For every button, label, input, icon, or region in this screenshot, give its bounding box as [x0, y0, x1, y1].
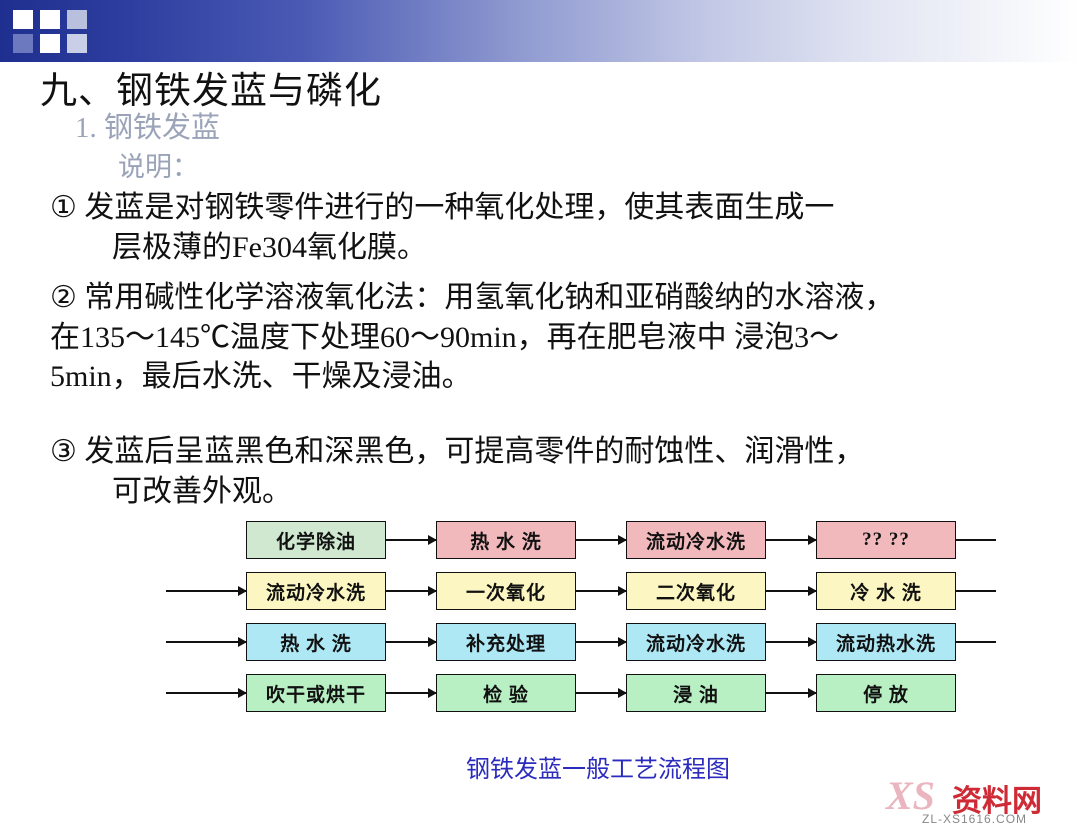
arrow-icon	[766, 641, 816, 643]
flow-node: 化学除油	[246, 521, 386, 559]
flowchart-caption: 钢铁发蓝一般工艺流程图	[228, 749, 968, 784]
squares-logo-icon	[0, 0, 130, 62]
process-flowchart: 化学除油 热 水 洗 流动冷水洗 ?? ?? 流动冷水洗 一次氧化 二次氧化 冷…	[228, 521, 968, 741]
paragraph-2-line-1: 常用碱性化学溶液氧化法：用氢氧化钠和亚硝酸纳的水溶液，	[84, 281, 894, 314]
flow-node: 热 水 洗	[436, 521, 576, 559]
watermark: XS 资料网 ZL-XS1616.COM	[886, 770, 1066, 826]
watermark-url: ZL-XS1616.COM	[922, 812, 1027, 826]
explain-label: 说明：	[118, 145, 199, 184]
flow-node: 冷 水 洗	[816, 572, 956, 610]
paragraph-2-line-2: 在135～145℃温度下处理60～90min，再在肥皂液中 浸泡3～	[50, 318, 1065, 358]
arrow-icon	[766, 539, 816, 541]
flow-node: 流动冷水洗	[626, 521, 766, 559]
arrow-icon	[196, 692, 246, 694]
paragraph-3: ③ 发蓝后呈蓝黑色和深黑色，可提高零件的耐蚀性、润滑性， 可改善外观。	[50, 432, 1065, 511]
arrow-icon	[766, 692, 816, 694]
paragraph-1-marker: ①	[50, 188, 77, 228]
flow-row: 化学除油 热 水 洗 流动冷水洗 ?? ??	[228, 521, 968, 563]
flow-node: ?? ??	[816, 521, 956, 559]
paragraph-1-line-2: 层极薄的Fe304氧化膜。	[50, 228, 1060, 268]
paragraph-2-marker: ②	[50, 278, 77, 318]
paragraph-2: ② 常用碱性化学溶液氧化法：用氢氧化钠和亚硝酸纳的水溶液， 在135～145℃温…	[50, 278, 1065, 397]
flow-node: 停 放	[816, 674, 956, 712]
flow-node: 补充处理	[436, 623, 576, 661]
paragraph-1: ① 发蓝是对钢铁零件进行的一种氧化处理，使其表面生成一 层极薄的Fe304氧化膜…	[50, 188, 1060, 267]
flow-node: 二次氧化	[626, 572, 766, 610]
arrow-icon	[576, 539, 626, 541]
arrow-icon	[386, 692, 436, 694]
connector-line	[166, 641, 196, 643]
arrow-icon	[386, 539, 436, 541]
flow-node: 流动热水洗	[816, 623, 956, 661]
flow-node: 热 水 洗	[246, 623, 386, 661]
arrow-icon	[576, 692, 626, 694]
flow-node: 流动冷水洗	[246, 572, 386, 610]
arrow-icon	[576, 590, 626, 592]
arrow-icon	[386, 641, 436, 643]
flow-node: 检 验	[436, 674, 576, 712]
flow-row: 流动冷水洗 一次氧化 二次氧化 冷 水 洗	[228, 572, 968, 614]
header-band	[0, 0, 1080, 62]
paragraph-1-line-1: 发蓝是对钢铁零件进行的一种氧化处理，使其表面生成一	[84, 191, 834, 224]
paragraph-2-line-3: 5min，最后水洗、干燥及浸油。	[50, 357, 1065, 397]
arrow-icon	[386, 590, 436, 592]
arrow-icon	[196, 590, 246, 592]
arrow-icon	[196, 641, 246, 643]
flow-row: 吹干或烘干 检 验 浸 油 停 放	[228, 674, 968, 716]
connector-line	[956, 539, 996, 541]
subtitle-text: 钢铁发蓝	[104, 112, 220, 144]
flow-node: 流动冷水洗	[626, 623, 766, 661]
connector-line	[166, 590, 196, 592]
subtitle-number: 1.	[75, 112, 97, 144]
connector-line	[166, 692, 196, 694]
flow-row: 热 水 洗 补充处理 流动冷水洗 流动热水洗	[228, 623, 968, 665]
flow-node: 吹干或烘干	[246, 674, 386, 712]
arrow-icon	[576, 641, 626, 643]
paragraph-3-marker: ③	[50, 432, 77, 472]
connector-line	[956, 590, 996, 592]
arrow-icon	[766, 590, 816, 592]
paragraph-3-line-2: 可改善外观。	[50, 472, 1065, 512]
flow-node: 浸 油	[626, 674, 766, 712]
connector-line	[956, 641, 996, 643]
flow-node: 一次氧化	[436, 572, 576, 610]
paragraph-3-line-1: 发蓝后呈蓝黑色和深黑色，可提高零件的耐蚀性、润滑性，	[84, 435, 864, 468]
section-subtitle: 1. 钢铁发蓝	[75, 104, 220, 146]
